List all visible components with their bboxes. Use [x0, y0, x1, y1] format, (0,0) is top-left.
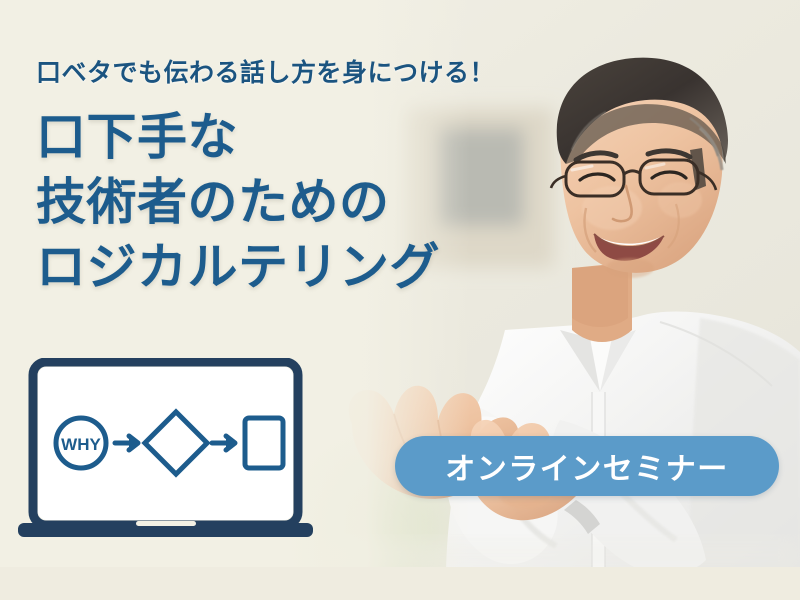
badge-label: オンラインセミナー [445, 444, 729, 488]
status-badge[interactable]: オンラインセミナー [395, 436, 779, 496]
headline-line-1: 口下手な [36, 105, 596, 170]
laptop-illustration: WHY [18, 358, 318, 543]
footer-strip [0, 567, 800, 600]
copy-block: 口ベタでも伝わる話し方を身につける！ 口下手な 技術者のための ロジカルテリング [36, 58, 596, 300]
diagram-why-label: WHY [61, 435, 101, 454]
headline-line-2: 技術者のための [36, 170, 596, 235]
page-title: 口下手な 技術者のための ロジカルテリング [36, 105, 596, 300]
subtitle: 口ベタでも伝わる話し方を身につける！ [36, 58, 596, 89]
headline-line-3: ロジカルテリング [36, 235, 596, 300]
seminar-banner: 口ベタでも伝わる話し方を身につける！ 口下手な 技術者のための ロジカルテリング [0, 0, 800, 600]
